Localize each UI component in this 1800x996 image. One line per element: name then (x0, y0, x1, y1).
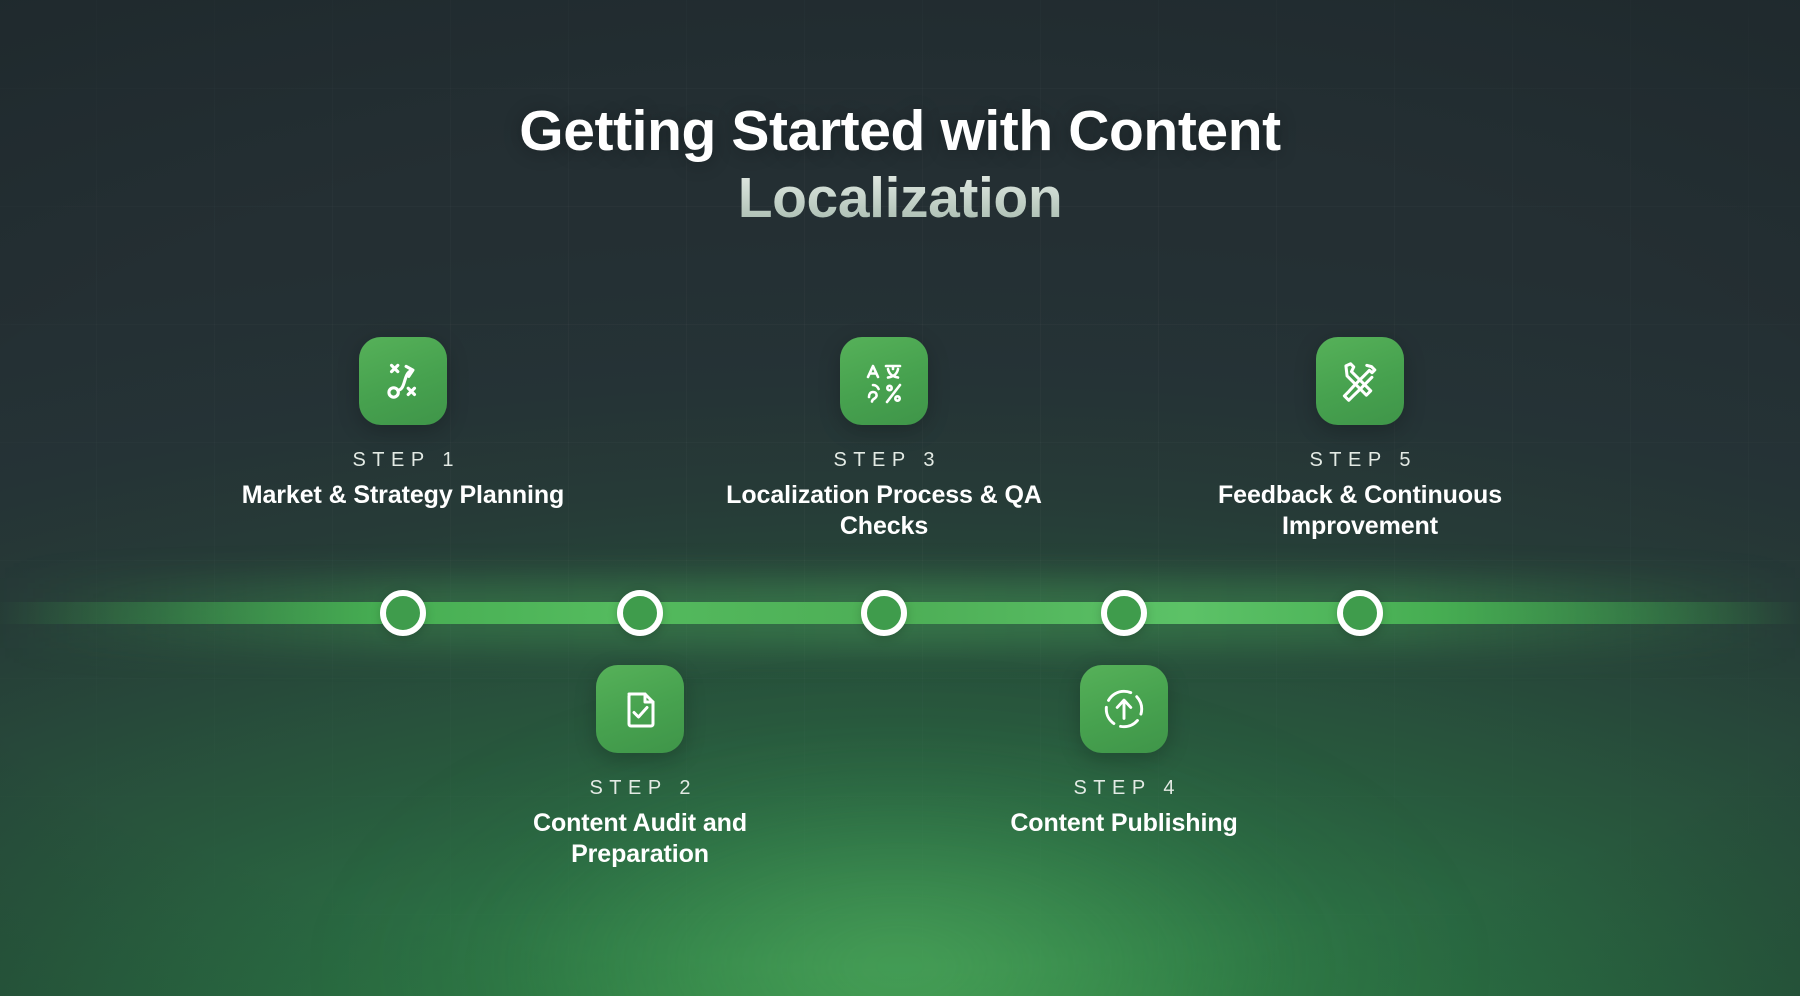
document-check-icon (596, 665, 684, 753)
timeline-node-4[interactable] (1101, 590, 1147, 636)
step-3[interactable]: STEP 3Localization Process & QA Checks (719, 337, 1049, 541)
step-number-5: STEP 5 (1195, 449, 1525, 472)
tools-hammer-screwdriver-icon (1316, 337, 1404, 425)
step-label-5: Feedback & Continuous Improvement (1195, 480, 1525, 541)
step-label-2: Content Audit and Preparation (475, 808, 805, 869)
step-number-3: STEP 3 (719, 449, 1049, 472)
page-title: Getting Started with Content Localizatio… (0, 98, 1800, 233)
step-label-3: Localization Process & QA Checks (719, 480, 1049, 541)
timeline-node-3[interactable] (861, 590, 907, 636)
timeline-node-2[interactable] (617, 590, 663, 636)
step-label-1: Market & Strategy Planning (238, 480, 568, 511)
step-4[interactable]: STEP 4Content Publishing (959, 665, 1289, 839)
step-5[interactable]: STEP 5Feedback & Continuous Improvement (1195, 337, 1525, 541)
step-label-4: Content Publishing (959, 808, 1289, 839)
title-line-primary: Getting Started with Content (0, 98, 1800, 165)
step-number-2: STEP 2 (475, 777, 805, 800)
step-2[interactable]: STEP 2Content Audit and Preparation (475, 665, 805, 869)
timeline-node-5[interactable] (1337, 590, 1383, 636)
timeline-node-1[interactable] (380, 590, 426, 636)
step-number-1: STEP 1 (238, 449, 568, 472)
strategy-playbook-icon (359, 337, 447, 425)
publish-upload-icon (1080, 665, 1168, 753)
step-number-4: STEP 4 (959, 777, 1289, 800)
translate-icon (840, 337, 928, 425)
infographic-canvas: Getting Started with Content Localizatio… (0, 0, 1800, 996)
step-1[interactable]: STEP 1Market & Strategy Planning (238, 337, 568, 511)
title-line-secondary: Localization (0, 165, 1800, 232)
